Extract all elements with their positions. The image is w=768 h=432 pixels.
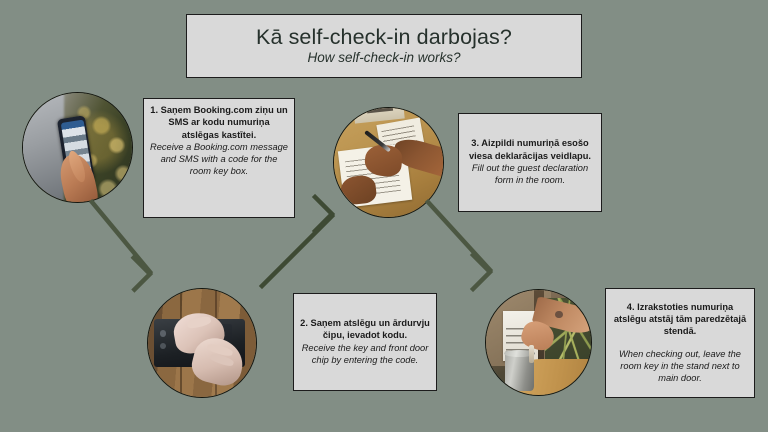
arrow-step2-to-step3: [258, 198, 358, 290]
step-2-text-en: Receive the key and front door chip by e…: [300, 342, 430, 367]
room-key: [529, 345, 534, 364]
page-title-en: How self-check-in works?: [307, 51, 460, 66]
photo-1-scene: [23, 93, 132, 202]
page-title-lv: Kā self-check-in darbojas?: [256, 26, 512, 50]
step-4-text-en: When checking out, leave the room key in…: [612, 348, 748, 385]
step-1-text-lv: 1. Saņem Booking.com ziņu un SMS ar kodu…: [150, 104, 288, 141]
title-box: Kā self-check-in darbojas? How self-chec…: [186, 14, 582, 78]
photo-2-scene: [148, 289, 256, 397]
lockbox-dial: [160, 330, 166, 336]
step-3-text-lv: 3. Aizpildi numuriņā esošo viesa deklarā…: [465, 137, 595, 162]
step-2-photo: [147, 288, 257, 398]
photo-4-scene: [486, 290, 591, 395]
step-4-text-lv: 4. Izrakstoties numuriņa atslēgu atstāj …: [612, 301, 748, 338]
step-4-photo: [485, 289, 592, 396]
step-3-text-en: Fill out the guest declaration form in t…: [465, 162, 595, 187]
arrow-step3-to-step4: [424, 198, 524, 290]
step-2-textbox: 2. Saņem atslēgu un ārdurvju čipu, ievad…: [293, 293, 437, 391]
step-4-textbox: 4. Izrakstoties numuriņa atslēgu atstāj …: [605, 288, 755, 398]
step-1-photo: [22, 92, 133, 203]
step-2-text-lv: 2. Saņem atslēgu un ārdurvju čipu, ievad…: [300, 317, 430, 342]
step-1-text-en: Receive a Booking.com message and SMS wi…: [150, 141, 288, 178]
arrow-step1-to-step2: [88, 198, 188, 290]
tattoo: [555, 311, 562, 318]
spacer: [612, 338, 748, 348]
slide-canvas: Kā self-check-in darbojas? How self-chec…: [0, 0, 768, 432]
room-wall: [22, 92, 64, 203]
